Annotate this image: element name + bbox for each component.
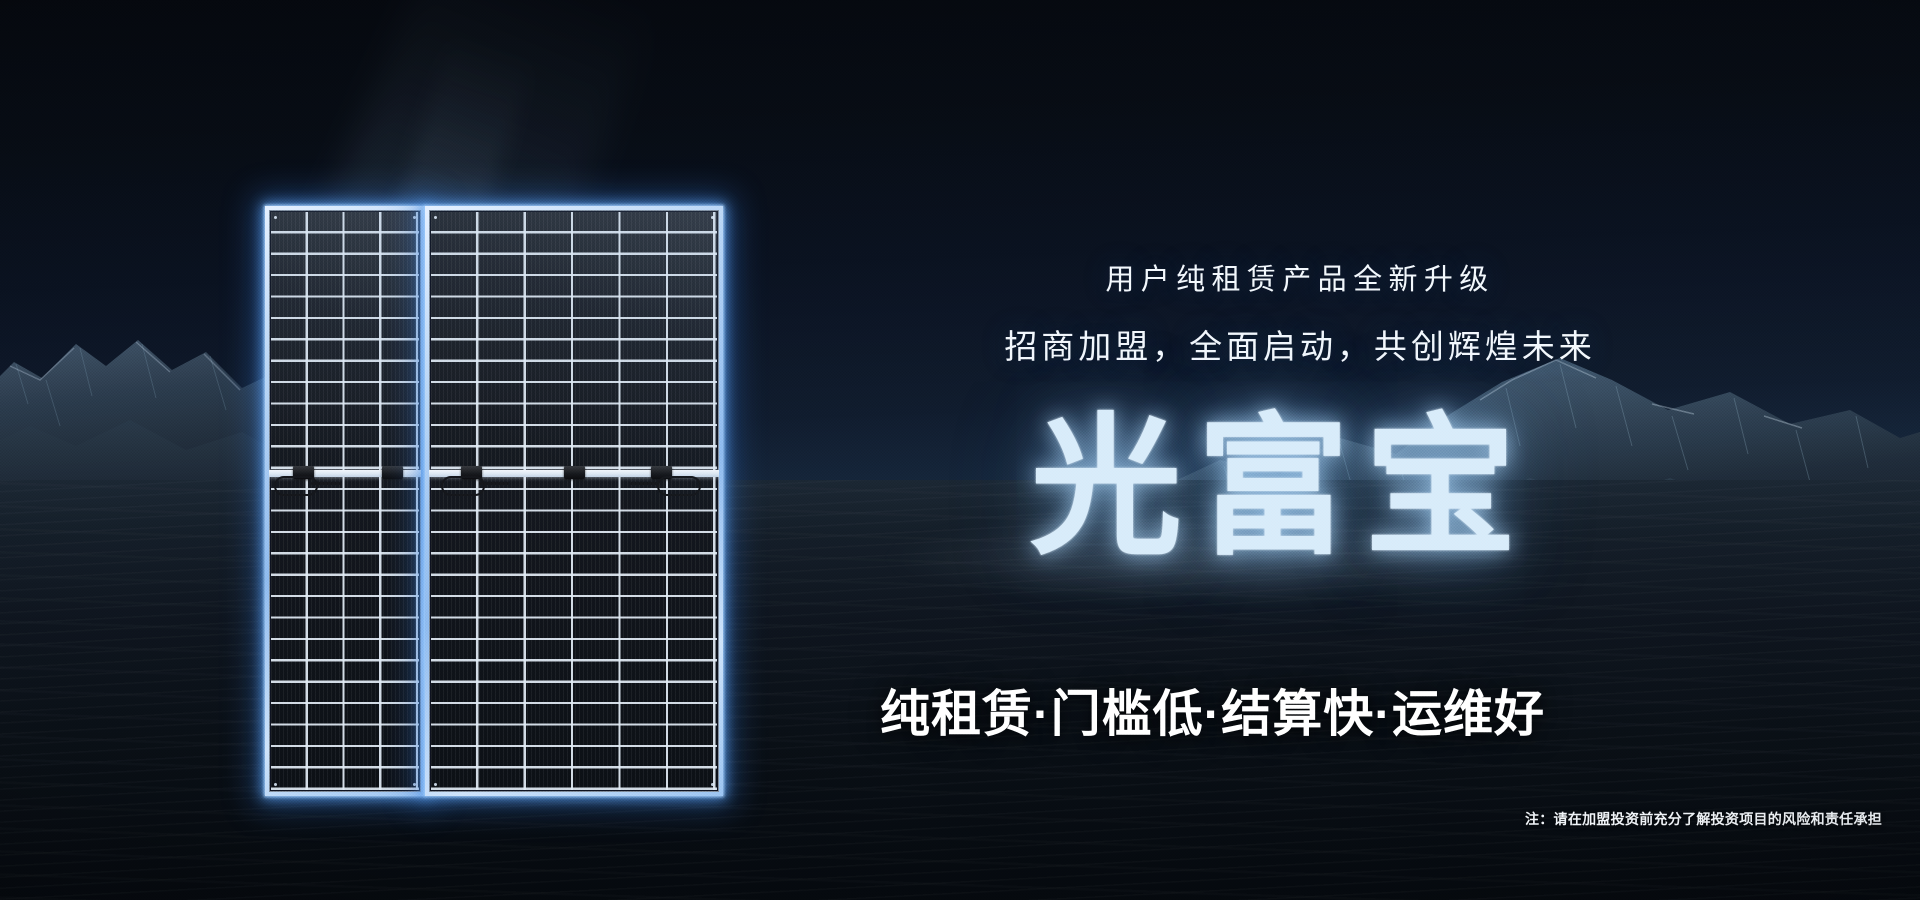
frame-bolt — [711, 216, 714, 219]
frame-bolt — [413, 216, 416, 219]
brand-name: 光富宝 — [1030, 412, 1532, 564]
tagline: 纯租赁·门槛低·结算快·运维好 — [880, 674, 1545, 746]
junction-box — [564, 466, 585, 479]
frame-bolt — [413, 783, 416, 786]
solar-panel-left — [265, 206, 425, 796]
panel-cable-tail — [629, 482, 659, 485]
cell-column-lines-left — [271, 212, 419, 790]
panel-cable — [441, 476, 485, 496]
frame-bolt — [274, 783, 277, 786]
panel-cable-tail — [479, 482, 509, 485]
panel-cable — [274, 476, 318, 496]
solar-panel-right — [425, 206, 723, 796]
frame-bolt — [434, 216, 437, 219]
panel-cable — [657, 476, 701, 496]
frame-bolt — [434, 783, 437, 786]
headline-line-1: 用户纯租赁产品全新升级 — [940, 256, 1660, 298]
cell-column-lines-right — [431, 212, 717, 790]
frame-bolt — [274, 216, 277, 219]
headline-line-2: 招商加盟，全面启动，共创辉煌未来 — [940, 320, 1660, 368]
promo-banner: 用户纯租赁产品全新升级 招商加盟，全面启动，共创辉煌未来 光富宝 纯租赁·门槛低… — [0, 0, 1920, 900]
panel-cable-tail — [311, 482, 341, 485]
disclaimer-note: 注：请在加盟投资前充分了解投资项目的风险和责任承担 — [1525, 809, 1882, 829]
frame-bolt — [711, 783, 714, 786]
solar-panel-product — [265, 206, 715, 788]
junction-box — [382, 466, 403, 479]
